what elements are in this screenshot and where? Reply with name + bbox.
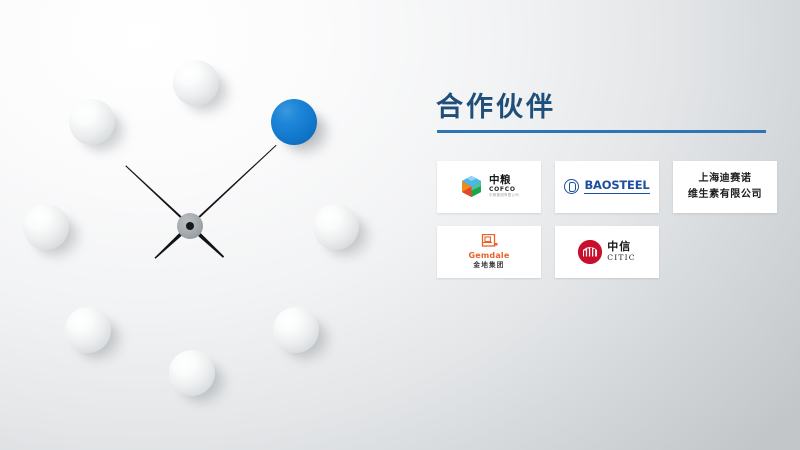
clock-marker-5 (273, 307, 319, 353)
clock-marker-9 (23, 204, 69, 250)
cofco-cube-icon (459, 174, 484, 199)
gemdale-logo: Gemdale 金地集团 (468, 234, 509, 270)
clock-marker-12 (173, 60, 219, 106)
desano-name-line2: 维生素有限公司 (688, 187, 762, 203)
partner-card-baosteel[interactable]: BAOSTEEL (555, 161, 659, 213)
cofco-name-cn: 中粮 (489, 175, 519, 186)
clock-marker-3 (313, 204, 359, 250)
citic-wordmark: 中信 CITIC (607, 241, 635, 263)
partner-logo-grid: 中粮 COFCO 中粮集团有限公司 BAOSTEEL 上海迪赛诺 维生素有限公司 (437, 161, 775, 278)
marker-ball (169, 350, 215, 396)
title-underline-rule (437, 130, 766, 133)
cofco-tagline: 中粮集团有限公司 (489, 193, 519, 198)
marker-ball (69, 99, 115, 145)
marker-ball (173, 60, 219, 106)
citic-circle-icon (578, 240, 602, 264)
partner-card-gemdale[interactable]: Gemdale 金地集团 (437, 226, 541, 278)
clock-marker-1-highlight (271, 99, 317, 145)
gemdale-name-cn: 金地集团 (473, 261, 504, 269)
gemdale-square-icon (481, 234, 498, 250)
partner-card-empty-slot (673, 226, 777, 278)
slide-canvas: 合作伙伴 (0, 0, 800, 450)
citic-logo: 中信 CITIC (578, 240, 635, 264)
cofco-logo: 中粮 COFCO 中粮集团有限公司 (459, 174, 519, 199)
partner-card-cofco[interactable]: 中粮 COFCO 中粮集团有限公司 (437, 161, 541, 213)
clock-marker-6 (169, 350, 215, 396)
clock-marker-11 (69, 99, 115, 145)
marker-ball (313, 204, 359, 250)
baosteel-name-en: BAOSTEEL (584, 179, 649, 194)
cofco-wordmark: 中粮 COFCO 中粮集团有限公司 (489, 175, 519, 198)
marker-ball (23, 204, 69, 250)
partner-card-citic[interactable]: 中信 CITIC (555, 226, 659, 278)
partner-card-desano[interactable]: 上海迪赛诺 维生素有限公司 (673, 161, 777, 213)
citic-name-cn: 中信 (607, 241, 635, 253)
desano-name-line1: 上海迪赛诺 (688, 171, 762, 187)
wall-clock-graphic (0, 0, 400, 450)
page-title: 合作伙伴 (430, 92, 775, 123)
gemdale-name-en: Gemdale (468, 251, 509, 261)
marker-ball (273, 307, 319, 353)
desano-wordmark: 上海迪赛诺 维生素有限公司 (688, 171, 762, 202)
citic-name-en: CITIC (607, 253, 635, 263)
partners-panel: 合作伙伴 (430, 92, 775, 278)
baosteel-circle-icon (564, 179, 579, 194)
baosteel-logo: BAOSTEEL (564, 179, 649, 194)
marker-ball-accent (271, 99, 317, 145)
clock-center-hub (177, 213, 203, 239)
title-block: 合作伙伴 (430, 92, 775, 133)
clock-marker-7 (65, 307, 111, 353)
minute-hand (189, 144, 277, 227)
marker-ball (65, 307, 111, 353)
